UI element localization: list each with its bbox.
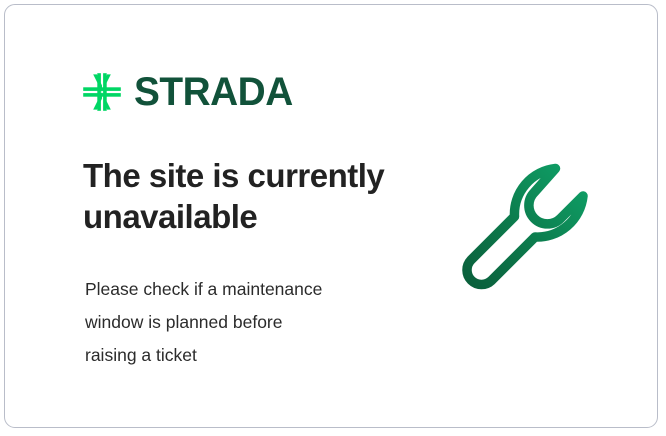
description-line: window is planned before [85,306,395,339]
status-card: STRADA The site is currently unavailable… [4,4,658,428]
wrench-icon [457,157,615,315]
brand-wordmark: STRADA [134,72,293,112]
page-title: The site is currently unavailable [83,155,423,237]
error-page: STRADA The site is currently unavailable… [0,0,666,436]
brand-logo: STRADA [81,71,298,113]
description-line: Please check if a maintenance [85,273,395,306]
page-description: Please check if a maintenance window is … [85,273,395,372]
description-line: raising a ticket [85,339,395,372]
strada-asterisk-icon [81,71,123,113]
